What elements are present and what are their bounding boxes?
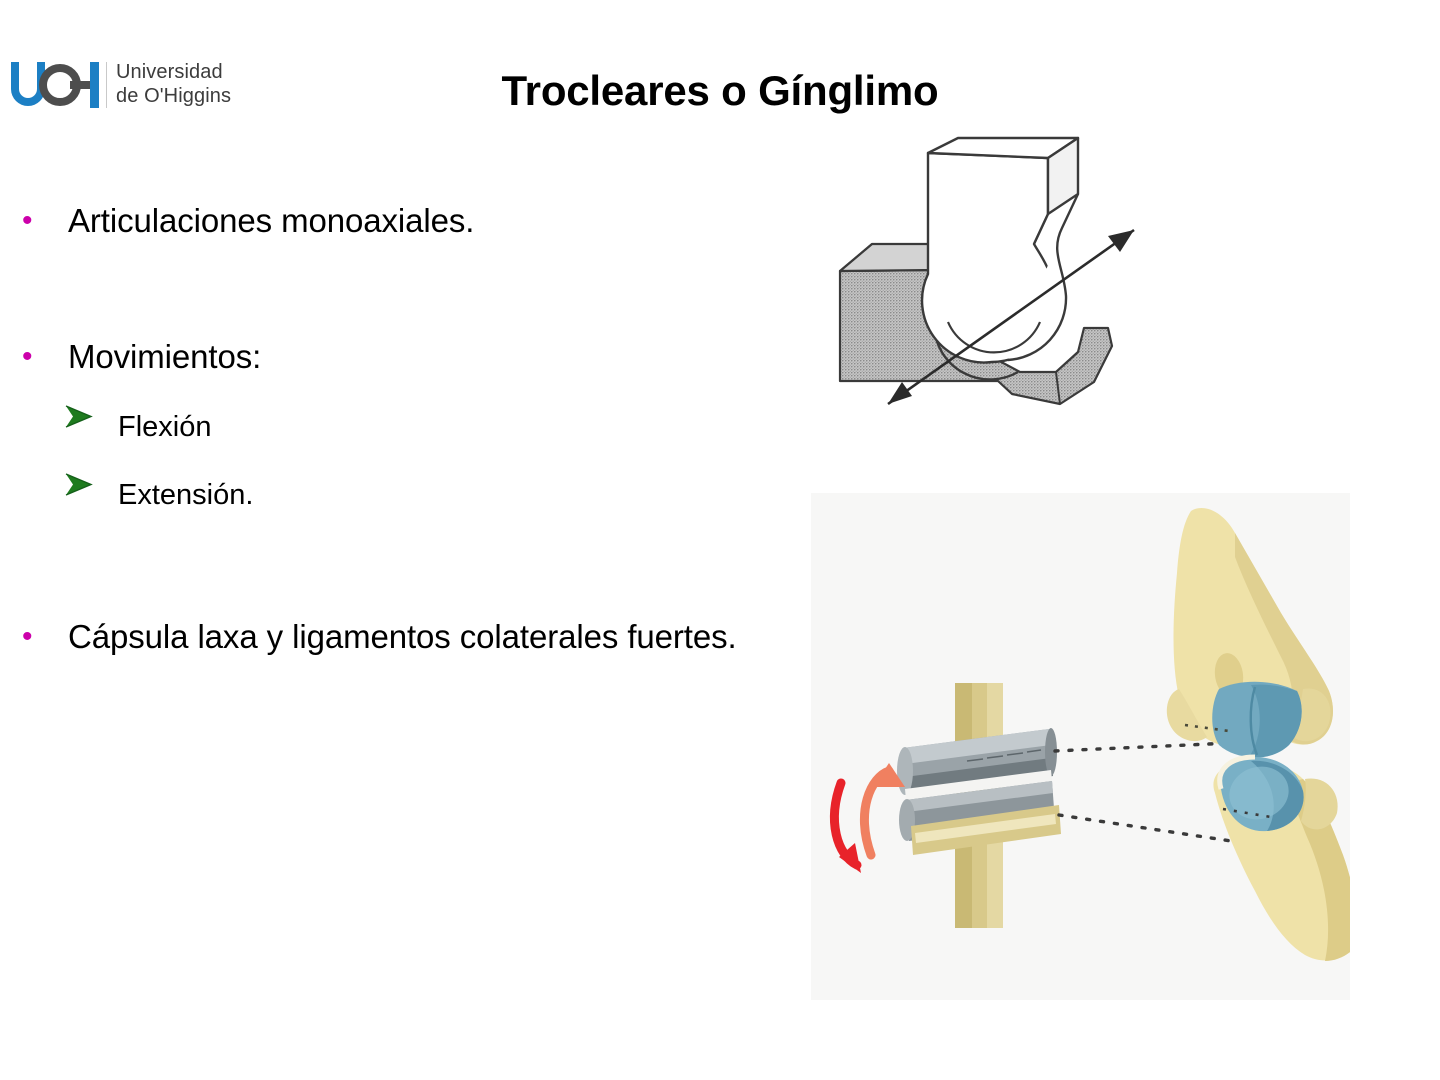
hinge-diagram-svg <box>812 132 1180 412</box>
spacer <box>0 450 790 472</box>
arrow-bullet-icon <box>64 472 118 498</box>
bullet-marker-dot: • <box>22 196 68 246</box>
logo-wordmark: Universidad de O'Higgins <box>116 61 231 108</box>
bullet-text: Cápsula laxa y ligamentos colaterales fu… <box>68 612 737 662</box>
slide-body: • Articulaciones monoaxiales. • Movimien… <box>0 196 790 662</box>
page-title: Trocleares o Gínglimo <box>220 64 1220 118</box>
hinge-post <box>922 138 1078 363</box>
hinge-model-cylinder <box>897 728 1061 855</box>
sub-bullet-text: Flexión <box>118 404 212 450</box>
sub-bullet-text: Extensión. <box>118 472 253 518</box>
sub-bullet-item: Flexión <box>0 404 790 450</box>
bullet-marker-dot: • <box>22 332 68 382</box>
hinge-joint-line-drawing <box>812 132 1180 412</box>
uoh-logo-mark <box>8 57 104 113</box>
logo-line-2: de O'Higgins <box>116 85 231 109</box>
arrow-right-icon <box>64 472 94 498</box>
bullet-item: • Articulaciones monoaxiales. <box>0 196 790 246</box>
spacer <box>0 246 790 332</box>
spacer <box>0 518 790 612</box>
bullet-text: Movimientos: <box>68 332 261 382</box>
elbow-hinge-joint-illustration <box>811 493 1350 1000</box>
bullet-marker-dot: • <box>22 612 68 662</box>
bullet-item: • Cápsula laxa y ligamentos colaterales … <box>0 612 790 662</box>
bullet-text: Articulaciones monoaxiales. <box>68 196 474 246</box>
bullet-item: • Movimientos: <box>0 332 790 382</box>
arrow-right-icon <box>64 404 94 430</box>
spacer <box>0 382 790 404</box>
sub-bullet-item: Extensión. <box>0 472 790 518</box>
arrow-bullet-icon <box>64 404 118 430</box>
logo-divider <box>106 62 107 108</box>
anatomy-svg <box>811 493 1350 1000</box>
logo-line-1: Universidad <box>116 61 231 85</box>
